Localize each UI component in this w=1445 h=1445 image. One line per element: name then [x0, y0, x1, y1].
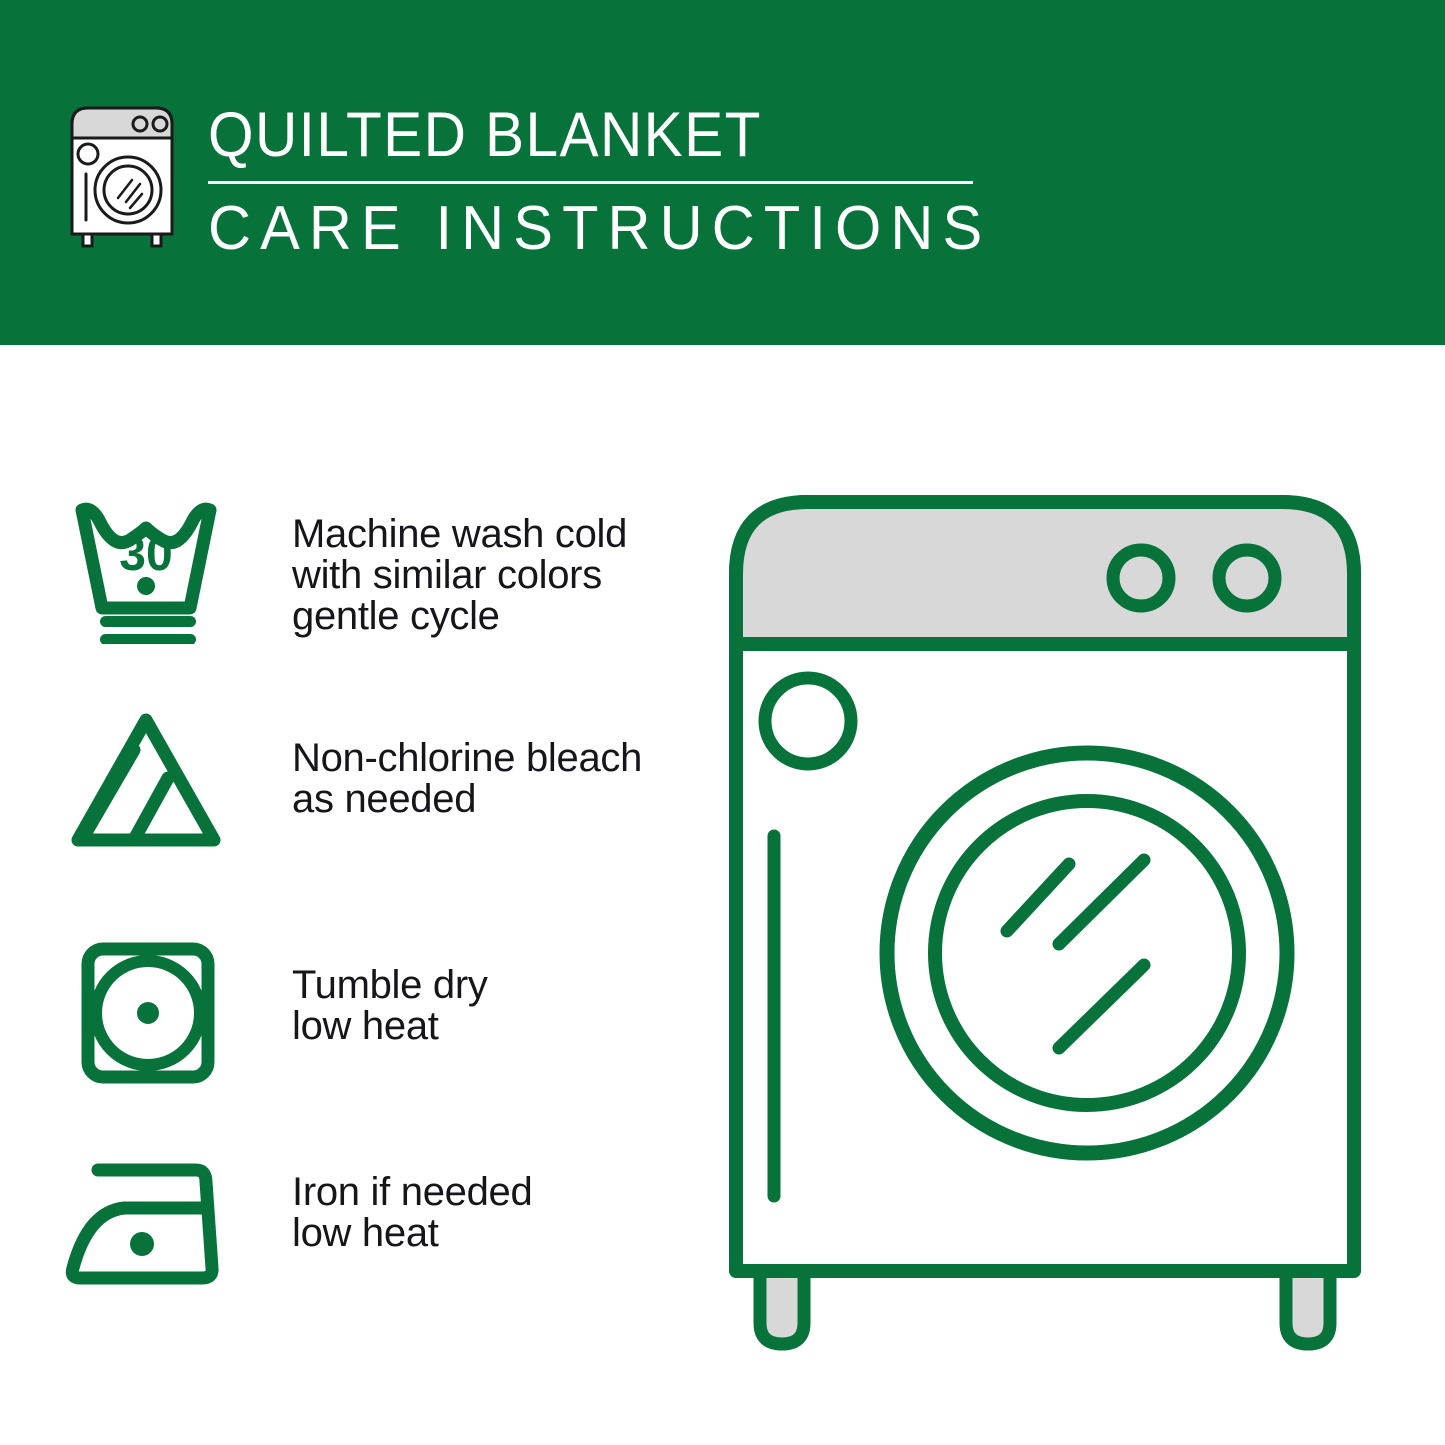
non-chlorine-bleach-triangle-icon	[62, 708, 230, 860]
tumble-dry-low-heat-icon	[62, 937, 230, 1089]
title-divider	[208, 181, 973, 184]
iron-low-heat-icon	[62, 1148, 230, 1300]
page-title-primary: QUILTED BLANKET	[208, 102, 967, 168]
care-instructions-card: QUILTED BLANKET CARE INSTRUCTIONS 30 Mac…	[0, 0, 1445, 1445]
care-label-iron: Iron if needed low heat	[292, 1148, 532, 1254]
care-label-bleach: Non-chlorine bleach as needed	[292, 708, 642, 820]
care-label-tumble-dry: Tumble dry low heat	[292, 937, 488, 1047]
washing-machine-icon	[66, 98, 178, 250]
header-banner: QUILTED BLANKET CARE INSTRUCTIONS	[0, 0, 1445, 345]
care-row-tumble-dry: Tumble dry low heat	[62, 937, 488, 1089]
page-title-secondary: CARE INSTRUCTIONS	[208, 195, 991, 263]
wash-temperature-value: 30	[119, 528, 172, 581]
care-row-wash: 30 Machine wash cold with similar colors…	[62, 492, 627, 644]
care-label-wash: Machine wash cold with similar colors ge…	[292, 492, 627, 637]
machine-control-panel	[736, 502, 1354, 644]
care-row-iron: Iron if needed low heat	[62, 1148, 532, 1300]
wash-tub-30-gentle-icon: 30	[62, 492, 230, 644]
front-load-washing-machine-illustration	[712, 478, 1402, 1368]
header-content: QUILTED BLANKET CARE INSTRUCTIONS	[66, 98, 1024, 263]
title-block: QUILTED BLANKET CARE INSTRUCTIONS	[208, 98, 1024, 263]
care-row-bleach: Non-chlorine bleach as needed	[62, 708, 642, 860]
